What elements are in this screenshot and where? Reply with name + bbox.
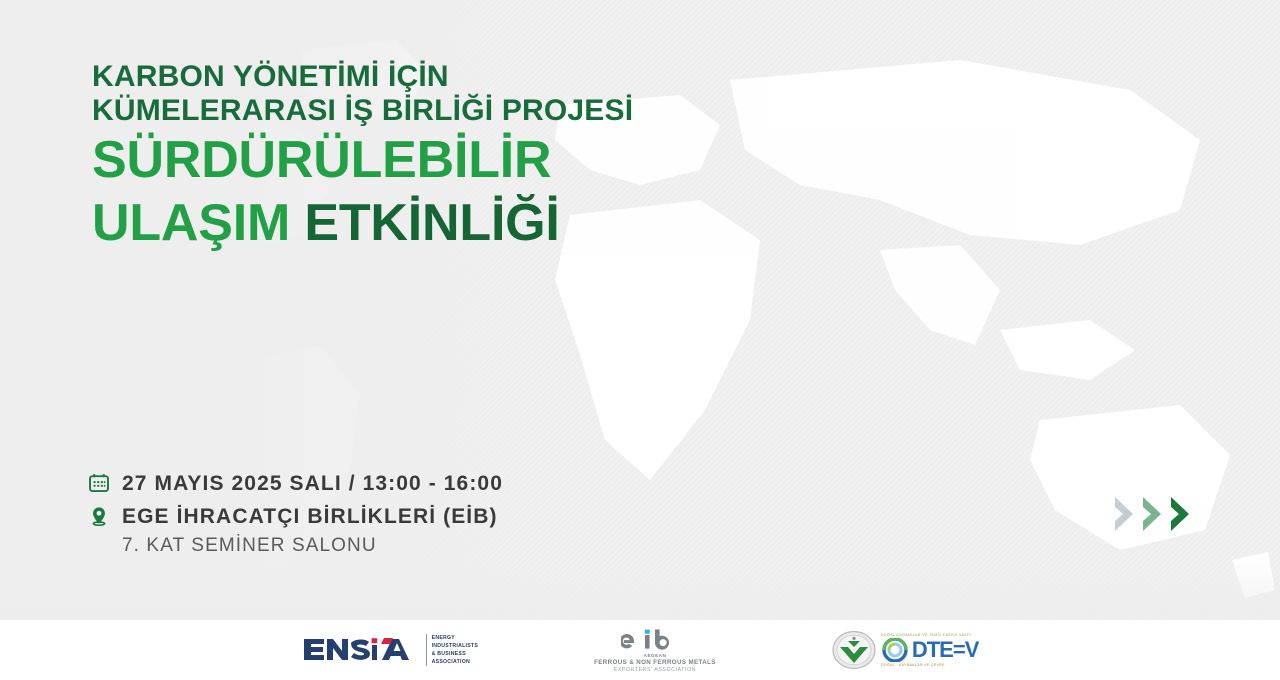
event-date-value: 27 MAYIS 2025 SALI / 13:00 - 16:00 [122, 471, 503, 497]
headline-line-1: KARBON YÖNETİMİ İÇİN [92, 60, 633, 94]
dtev-mid-row: DTE=V [881, 638, 979, 662]
headline-line-3-text: SÜRDÜRÜLEBİLİR [92, 131, 551, 189]
event-date-row: 27 MAYIS 2025 SALI / 13:00 - 16:00 [88, 470, 503, 497]
event-location-text-group: EGE İHRACATÇI BİRLİKLERİ (EİB) 7. KAT SE… [122, 503, 498, 558]
dtev-swirl-icon [881, 638, 911, 662]
logo-dtev: DOĞAL KAYNAKLAR VE TEMİZ ENERJİ VAKFI DT… [832, 630, 979, 670]
dtev-bottom-text: DOĞAL - KAYNAKLAR VE ÇEVRE [881, 663, 945, 667]
event-location-room: 7. KAT SEMİNER SALONU [122, 534, 498, 559]
poster-headline: KARBON YÖNETİMİ İÇİN KÜMELERARASI İŞ BİR… [92, 60, 633, 254]
dtev-wordmark: DTE=V [912, 639, 979, 661]
logo-eib: AEGEAN FERROUS & NON FERROUS METALS EXPO… [594, 628, 716, 673]
event-location-row: EGE İHRACATÇI BİRLİKLERİ (EİB) 7. KAT SE… [88, 503, 503, 558]
logo-ensia: ENERGY INDUSTRIALISTS & BUSINESS ASSOCIA… [302, 634, 478, 666]
eib-tagline-exporters: EXPORTERS' ASSOCIATION [614, 667, 696, 673]
dtev-wordmark-group: DOĞAL KAYNAKLAR VE TEMİZ ENERJİ VAKFI DT… [881, 633, 979, 667]
headline-line-2: KÜMELERARASI İŞ BİRLİĞİ PROJESİ [92, 94, 633, 128]
headline-line-4-bright: ULAŞIM [92, 194, 304, 252]
ensia-tagline-line-2: INDUSTRIALISTS [432, 642, 478, 650]
event-poster: KARBON YÖNETİMİ İÇİN KÜMELERARASI İŞ BİR… [0, 0, 1280, 680]
ensia-tagline-line-4: ASSOCIATION [432, 658, 478, 666]
ensia-tagline-line-1: ENERGY [432, 634, 478, 642]
event-date-text-group: 27 MAYIS 2025 SALI / 13:00 - 16:00 [122, 470, 503, 497]
headline-line-4-dark: ETKİNLİĞİ [304, 194, 559, 252]
eib-tagline-metals: FERROUS & NON FERROUS METALS [594, 659, 716, 666]
headline-line-4: ULAŞIM ETKİNLİĞİ [92, 194, 633, 253]
triple-chevron-right-icon [1112, 494, 1194, 534]
map-pin-icon [88, 503, 122, 527]
calendar-icon [88, 470, 122, 494]
event-location-venue: EGE İHRACATÇI BİRLİKLERİ (EİB) [122, 504, 498, 530]
eib-tagline-aegean: AEGEAN [644, 653, 667, 658]
event-details: 27 MAYIS 2025 SALI / 13:00 - 16:00 EGE İ… [88, 470, 503, 558]
ensia-tagline-line-3: & BUSINESS [432, 650, 478, 658]
headline-line-3: SÜRDÜRÜLEBİLİR [92, 131, 633, 190]
ensia-tagline: ENERGY INDUSTRIALISTS & BUSINESS ASSOCIA… [426, 634, 478, 666]
sponsor-logo-bar: ENERGY INDUSTRIALISTS & BUSINESS ASSOCIA… [0, 620, 1280, 680]
